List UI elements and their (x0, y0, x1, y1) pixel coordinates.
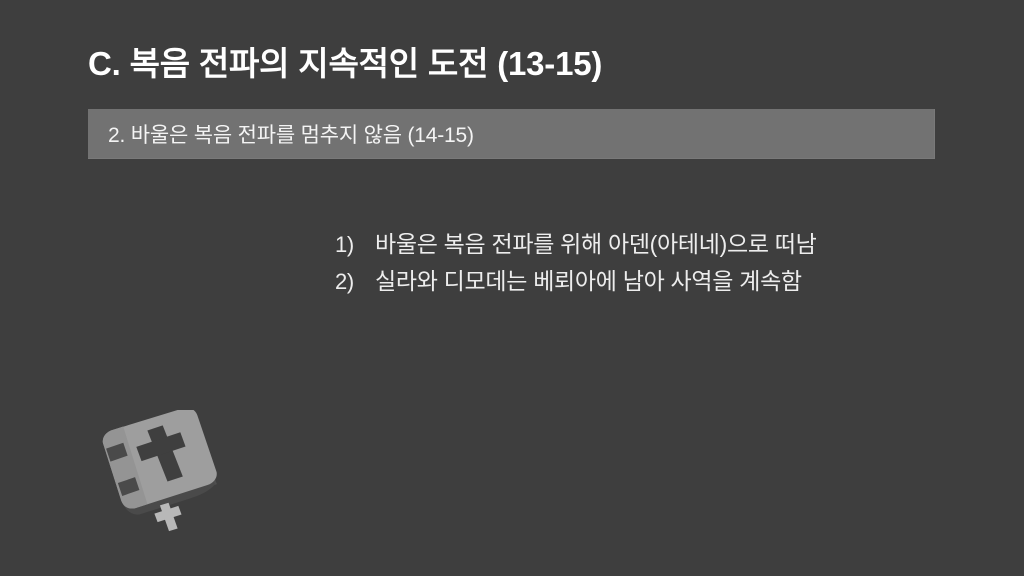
list-item-marker: 2) (335, 264, 375, 300)
list-item: 2) 실라와 디모데는 베뢰아에 남아 사역을 계속함 (335, 263, 975, 300)
bible-book-with-cross-icon (84, 410, 224, 540)
presentation-slide: C. 복음 전파의 지속적인 도전 (13-15) 2. 바울은 복음 전파를 … (0, 0, 1024, 576)
subtitle-band: 2. 바울은 복음 전파를 멈추지 않음 (14-15) (88, 109, 935, 159)
list-item-label: 바울은 복음 전파를 위해 아덴(아테네)으로 떠남 (375, 226, 975, 263)
list-item-label: 실라와 디모데는 베뢰아에 남아 사역을 계속함 (375, 263, 975, 300)
bullet-list: 1) 바울은 복음 전파를 위해 아덴(아테네)으로 떠남 2) 실라와 디모데… (335, 226, 975, 301)
list-item: 1) 바울은 복음 전파를 위해 아덴(아테네)으로 떠남 (335, 226, 975, 263)
subtitle-text: 2. 바울은 복음 전파를 멈추지 않음 (14-15) (108, 119, 474, 149)
page-title: C. 복음 전파의 지속적인 도전 (13-15) (88, 44, 948, 84)
list-item-marker: 1) (335, 227, 375, 263)
